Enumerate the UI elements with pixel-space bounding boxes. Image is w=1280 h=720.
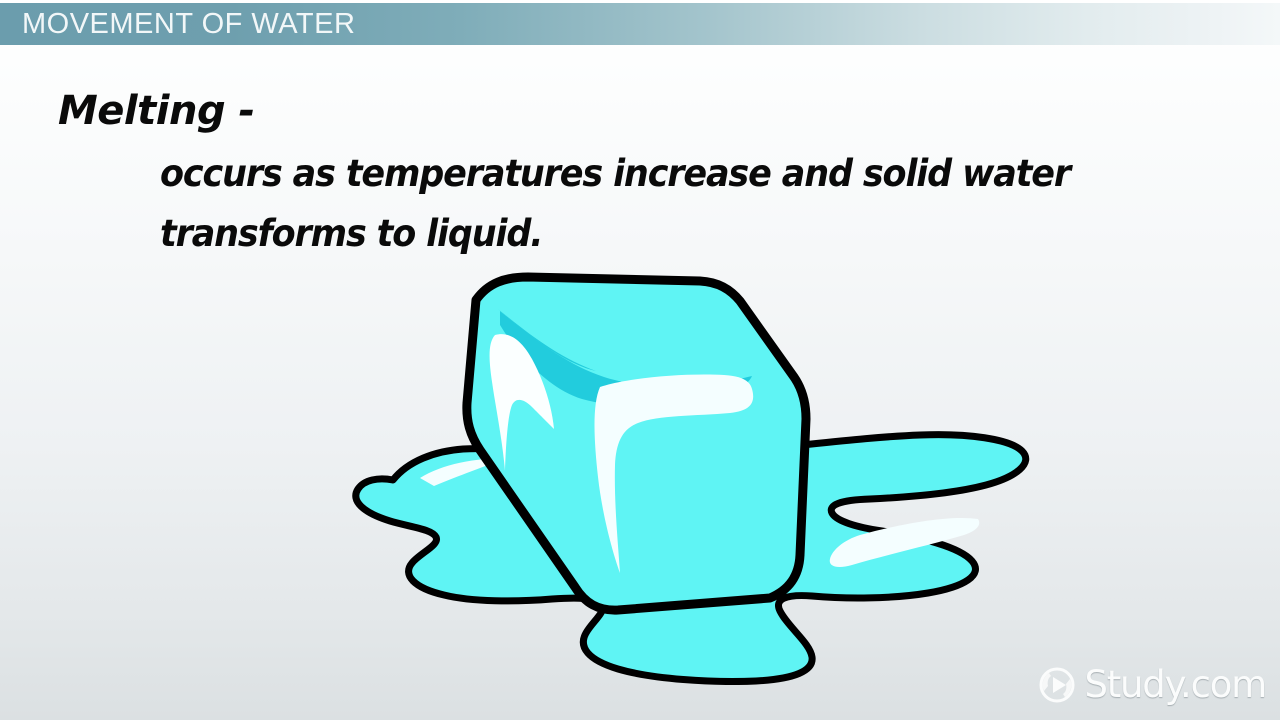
study-com-logo[interactable]: Study.com [1037, 662, 1266, 708]
study-com-wordmark: Study.com [1084, 665, 1266, 705]
play-circle-icon [1037, 665, 1077, 705]
page-title: MOVEMENT OF WATER [22, 4, 355, 44]
heading-melting: Melting - [58, 88, 255, 134]
definition-line-2: transforms to liquid. [160, 212, 542, 255]
melting-ice-cube-illustration [300, 265, 1060, 685]
definition-line-1: occurs as temperatures increase and soli… [160, 152, 1070, 195]
slide: MOVEMENT OF WATER Melting - occurs as te… [0, 0, 1280, 720]
header-bar: MOVEMENT OF WATER [0, 3, 1280, 45]
